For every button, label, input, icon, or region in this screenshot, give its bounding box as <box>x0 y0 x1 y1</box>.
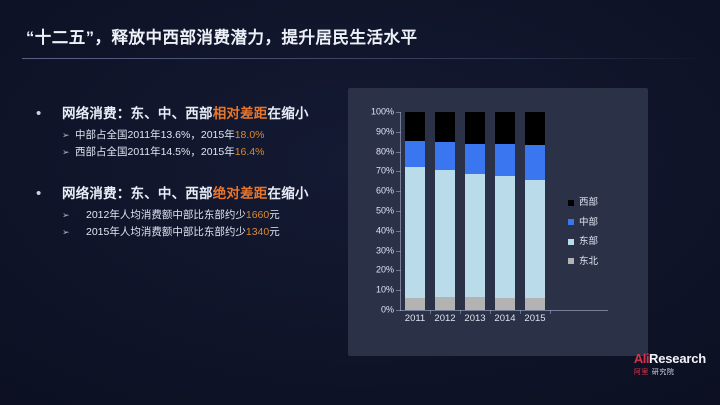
y-axis-tick-label: 10% <box>376 286 394 295</box>
sub-bullet-row: ➢2015年人均消费额中部比东部约少1340元 <box>62 225 354 240</box>
chart-legend: 西部中部东部东北 <box>568 198 598 276</box>
bar-segment <box>525 145 545 181</box>
bullet-text-prefix: 网络消费：东、中、西部 <box>62 186 213 201</box>
sub-bullet-arrow-icon: ➢ <box>62 145 75 160</box>
y-axis-tick-label: 100% <box>371 108 394 117</box>
y-axis-tick-mark <box>396 152 401 153</box>
sub-text-prefix: 中部占全国2011年13.6%，2015年 <box>75 129 235 141</box>
logo-research-text: Research <box>649 351 706 366</box>
title-bar: “十二五”，释放中西部消费潜力，提升居民生活水平 <box>0 10 720 54</box>
legend-swatch-icon <box>568 200 574 206</box>
bullet-text-suffix: 在缩小 <box>268 186 309 201</box>
sub-bullet-text: 2012年人均消费额中部比东部约少1660元 <box>86 208 280 223</box>
logo-cn-white-text: 研究院 <box>652 367 675 377</box>
bullet-group: •网络消费：东、中、西部相对差距在缩小➢中部占全国2011年13.6%，2015… <box>34 104 354 160</box>
content-bullets: •网络消费：东、中、西部相对差距在缩小➢中部占全国2011年13.6%，2015… <box>34 104 354 264</box>
legend-label: 东部 <box>579 237 598 247</box>
y-axis-tick-mark <box>396 270 401 271</box>
bar-stack <box>465 112 485 310</box>
bullet-dot-icon: • <box>34 104 46 123</box>
sub-bullet-row: ➢西部占全国2011年14.5%，2015年16.4% <box>62 145 354 160</box>
sub-bullet-list: ➢中部占全国2011年13.6%，2015年18.0%➢西部占全国2011年14… <box>34 128 354 160</box>
sub-bullet-row: ➢2012年人均消费额中部比东部约少1660元 <box>62 208 354 223</box>
chart-plot-container: 0%10%20%30%40%50%60%70%80%90%100% 西部中部东部… <box>358 98 638 346</box>
x-axis-tick-label: 2014 <box>488 314 522 324</box>
y-axis-tick-label: 50% <box>376 207 394 216</box>
bullet-text-suffix: 在缩小 <box>268 106 309 121</box>
logo-cn-red-text: 阿里 <box>634 367 649 377</box>
bar-segment <box>435 170 455 297</box>
legend-item: 西部 <box>568 198 598 208</box>
legend-label: 西部 <box>579 198 598 208</box>
y-axis-tick-mark <box>396 171 401 172</box>
y-axis-tick-mark <box>396 112 401 113</box>
bar-segment <box>525 180 545 298</box>
sub-text-prefix: 西部占全国2011年14.5%，2015年 <box>75 146 235 158</box>
bar-segment <box>495 112 515 144</box>
sub-bullet-text: 中部占全国2011年13.6%，2015年18.0% <box>75 128 265 143</box>
bar-segment <box>435 142 455 171</box>
bullet-text-prefix: 网络消费：东、中、西部 <box>62 106 213 121</box>
plot-area: 0%10%20%30%40%50%60%70%80%90%100% <box>400 112 550 310</box>
bar-segment <box>525 298 545 310</box>
sub-bullet-text: 2015年人均消费额中部比东部约少1340元 <box>86 225 280 240</box>
bar-segment <box>495 176 515 298</box>
legend-swatch-icon <box>568 219 574 225</box>
logo-chinese: 阿里 研究院 <box>634 367 706 377</box>
sub-bullet-row: ➢中部占全国2011年13.6%，2015年18.0% <box>62 128 354 143</box>
y-axis-tick-label: 90% <box>376 127 394 136</box>
y-axis-tick-label: 30% <box>376 246 394 255</box>
y-axis-tick-mark <box>396 310 401 311</box>
bar-segment <box>405 112 425 141</box>
bar-segment <box>465 174 485 297</box>
sub-text-value: 16.4% <box>235 146 265 158</box>
legend-item: 东北 <box>568 257 598 267</box>
sub-bullet-arrow-icon: ➢ <box>62 225 86 240</box>
bullet-main-text: 网络消费：东、中、西部相对差距在缩小 <box>46 104 309 123</box>
sub-bullet-arrow-icon: ➢ <box>62 128 75 143</box>
bar-stack <box>405 112 425 310</box>
bar-stack <box>525 112 545 310</box>
sub-text-value: 1660 <box>246 209 269 221</box>
y-axis-tick-mark <box>396 290 401 291</box>
bullet-text-highlight: 绝对差距 <box>213 186 268 201</box>
y-axis-tick-mark <box>396 251 401 252</box>
legend-swatch-icon <box>568 258 574 264</box>
y-axis-tick-mark <box>396 211 401 212</box>
bullet-dot-icon: • <box>34 184 46 203</box>
bar-stack <box>435 112 455 310</box>
slide-canvas: “十二五”，释放中西部消费潜力，提升居民生活水平 •网络消费：东、中、西部相对差… <box>0 0 720 405</box>
legend-label: 东北 <box>579 257 598 267</box>
legend-item: 东部 <box>568 237 598 247</box>
x-axis-tick-label: 2015 <box>518 314 552 324</box>
sub-text-value: 18.0% <box>235 129 265 141</box>
logo-wordmark: Ali Research <box>634 351 706 366</box>
y-axis-tick-label: 60% <box>376 187 394 196</box>
y-axis-tick-label: 0% <box>381 306 394 315</box>
y-axis-tick-label: 40% <box>376 226 394 235</box>
x-axis-line <box>400 310 608 311</box>
bar-segment <box>495 298 515 310</box>
sub-bullet-arrow-icon: ➢ <box>62 208 86 223</box>
sub-text-suffix: 元 <box>269 226 280 238</box>
y-axis-tick-mark <box>396 231 401 232</box>
y-axis-tick-mark <box>396 132 401 133</box>
chart-panel: 0%10%20%30%40%50%60%70%80%90%100% 西部中部东部… <box>348 88 648 356</box>
bar-segment <box>435 297 455 310</box>
y-axis-tick-label: 70% <box>376 167 394 176</box>
bar-segment <box>405 298 425 310</box>
bar-segment <box>465 144 485 175</box>
legend-item: 中部 <box>568 218 598 228</box>
bullet-main-row: •网络消费：东、中、西部相对差距在缩小 <box>34 104 354 123</box>
legend-label: 中部 <box>579 218 598 228</box>
bullet-main-row: •网络消费：东、中、西部绝对差距在缩小 <box>34 184 354 203</box>
ali-research-logo: Ali Research 阿里 研究院 <box>634 351 706 377</box>
bullet-group: •网络消费：东、中、西部绝对差距在缩小➢2012年人均消费额中部比东部约少166… <box>34 184 354 240</box>
sub-text-value: 1340 <box>246 226 269 238</box>
bar-segment <box>405 167 425 298</box>
sub-bullet-list: ➢2012年人均消费额中部比东部约少1660元➢2015年人均消费额中部比东部约… <box>34 208 354 240</box>
bar-stack <box>495 112 515 310</box>
bar-segment <box>525 112 545 145</box>
logo-ali-text: Ali <box>634 351 649 366</box>
title-divider <box>22 58 698 59</box>
y-axis-tick-label: 20% <box>376 266 394 275</box>
x-axis-tick-label: 2012 <box>428 314 462 324</box>
bar-segment <box>405 141 425 168</box>
sub-text-prefix: 2015年人均消费额中部比东部约少 <box>86 226 246 238</box>
bar-segment <box>465 297 485 310</box>
y-axis-tick-label: 80% <box>376 147 394 156</box>
sub-text-suffix: 元 <box>269 209 280 221</box>
x-axis-tick-label: 2011 <box>398 314 432 324</box>
sub-bullet-text: 西部占全国2011年14.5%，2015年16.4% <box>75 145 265 160</box>
bar-segment <box>465 112 485 144</box>
bar-segment <box>435 112 455 142</box>
bullet-text-highlight: 相对差距 <box>213 106 268 121</box>
y-axis-tick-mark <box>396 191 401 192</box>
page-title: “十二五”，释放中西部消费潜力，提升居民生活水平 <box>26 24 418 48</box>
sub-text-prefix: 2012年人均消费额中部比东部约少 <box>86 209 246 221</box>
bar-segment <box>495 144 515 177</box>
legend-swatch-icon <box>568 239 574 245</box>
x-axis-tick-label: 2013 <box>458 314 492 324</box>
bullet-main-text: 网络消费：东、中、西部绝对差距在缩小 <box>46 184 309 203</box>
